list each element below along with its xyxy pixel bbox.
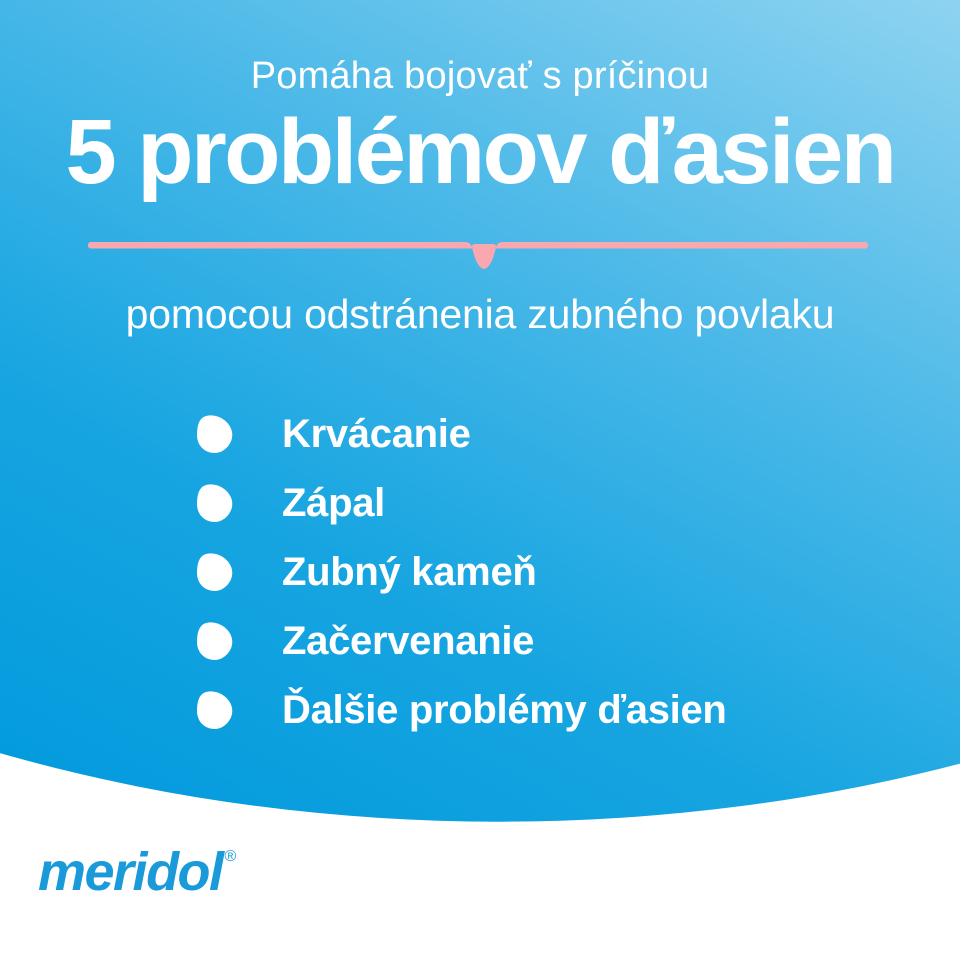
tooth-bullet-icon — [196, 690, 234, 730]
list-item: Ďalšie problémy ďasien — [196, 676, 836, 744]
list-item-label: Krvácanie — [282, 414, 471, 454]
page-title: 5 problémov ďasien — [0, 106, 960, 198]
tooth-bullet-icon — [196, 414, 234, 454]
list-item-label: Ďalšie problémy ďasien — [282, 690, 727, 730]
divider — [88, 241, 868, 277]
logo-wordmark: meridol — [38, 845, 223, 899]
tooth-bullet-icon — [196, 483, 234, 523]
promo-banner: Pomáha bojovať s príčinou 5 problémov ďa… — [0, 0, 960, 960]
registered-trademark-icon: ® — [225, 849, 237, 865]
tooth-bullet-icon — [196, 621, 234, 661]
list-item-label: Zubný kameň — [282, 552, 537, 592]
list-item: Začervenanie — [196, 607, 836, 675]
brand-logo: meridol ® — [38, 845, 236, 899]
list-item-label: Zápal — [282, 483, 385, 523]
eyebrow-text: Pomáha bojovať s príčinou — [0, 56, 960, 98]
list-item: Krvácanie — [196, 400, 836, 468]
tooth-notch-icon — [88, 241, 868, 277]
list-item-label: Začervenanie — [282, 621, 534, 661]
list-item: Zubný kameň — [196, 538, 836, 606]
issue-list: Krvácanie Zápal Zubný kameň — [196, 400, 836, 745]
list-item: Zápal — [196, 469, 836, 537]
tooth-bullet-icon — [196, 552, 234, 592]
subtitle-text: pomocou odstránenia zubného povlaku — [0, 292, 960, 337]
